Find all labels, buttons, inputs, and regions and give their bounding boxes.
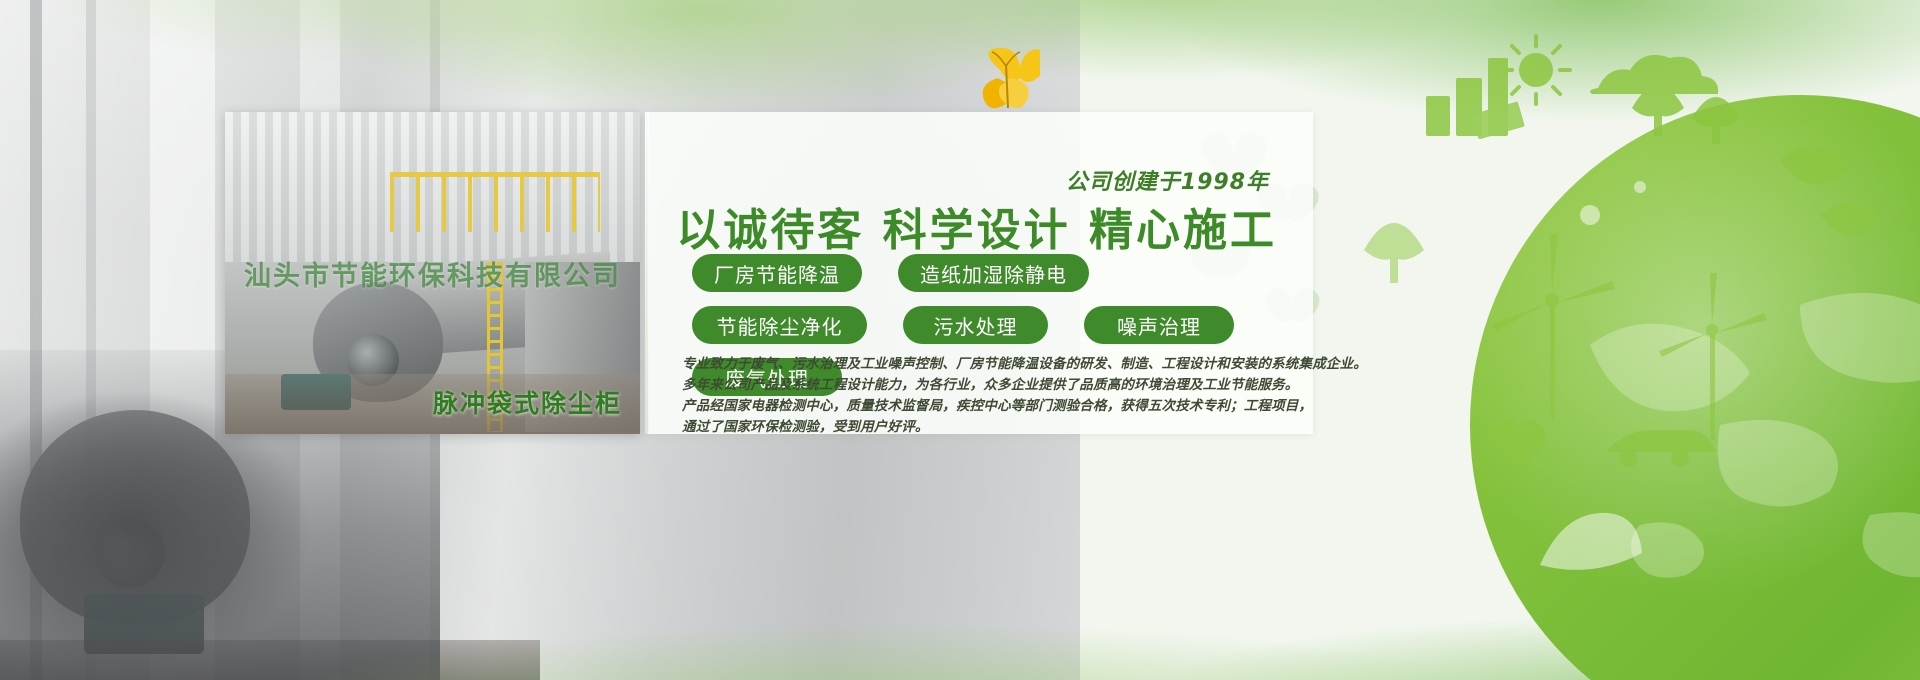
service-pill-dust-purification[interactable]: 节能除尘净化 [692,306,867,344]
background-fan-housing [20,410,250,625]
eco-icons-overlay [1470,95,1920,680]
photo-caption: 脉冲袋式除尘柜 [433,384,622,420]
description-line: 专业致力于废气、污水治理及工业噪声控制、厂房节能降温设备的研发、制造、工程设计和… [682,354,1302,375]
photo-yellow-railing [390,172,600,232]
background-floor [0,640,540,680]
service-pill-paper-humidify[interactable]: 造纸加湿除静电 [898,254,1089,292]
eco-circle-icon [1470,95,1920,680]
description-line: 产品经国家电器检测中心，质量技术监督局，疾控中心等部门测验合格，获得五次技术专利… [682,396,1302,417]
company-description: 专业致力于废气、污水治理及工业噪声控制、厂房节能降温设备的研发、制造、工程设计和… [682,354,1302,438]
eyebrow-text: 公司创建于1998年 [1066,164,1269,196]
background-motor [84,594,204,654]
butterfly-icon [970,48,1040,120]
service-pill-wastewater[interactable]: 污水处理 [903,306,1048,344]
service-pill-factory-cooling[interactable]: 厂房节能降温 [692,254,862,292]
background-fan-hub [95,518,165,588]
photo-watermark: 汕头市节能环保科技有限公司 [225,254,640,293]
description-line: 多年来公司产品及系统工程设计能力，为各行业，众多企业提供了品质高的环境治理及工业… [682,375,1302,396]
service-pill-noise-control[interactable]: 噪声治理 [1084,306,1234,344]
description-line: 通过了国家环保检测验，受到用户好评。 [682,417,1302,438]
page-title: 以诚待客 科学设计 精心施工 [676,194,1277,258]
promo-banner: 汕头市节能环保科技有限公司 脉冲袋式除尘柜 公司创建于1998年 以诚待客 科学… [0,0,1920,680]
product-photo-card: 汕头市节能环保科技有限公司 脉冲袋式除尘柜 [225,112,640,434]
copy-block: 公司创建于1998年 以诚待客 科学设计 精心施工 厂房节能降温 造纸加湿除静电… [648,112,1313,434]
